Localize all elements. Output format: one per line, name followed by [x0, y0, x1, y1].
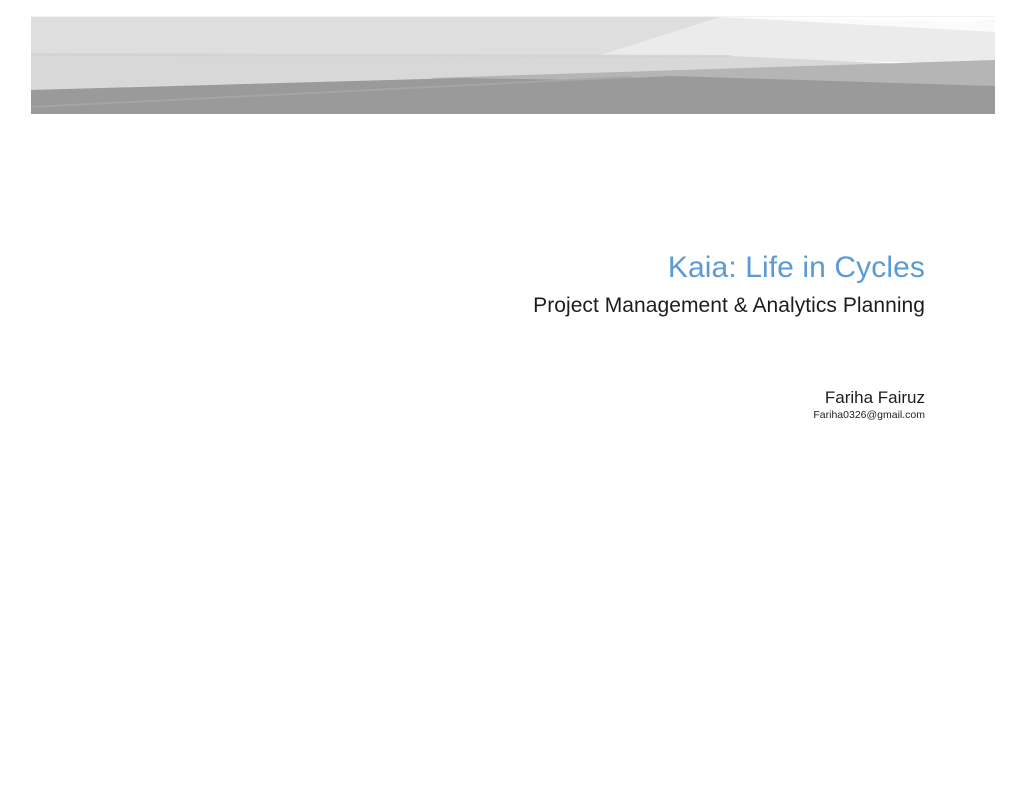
page-title: Kaia: Life in Cycles [60, 250, 925, 286]
title-placeholder: Kaia: Life in Cycles Project Management … [60, 250, 925, 319]
page-subtitle: Project Management & Analytics Planning [60, 293, 925, 319]
banner-top-hairline [31, 16, 995, 17]
author-name: Fariha Fairuz [60, 387, 925, 408]
decorative-banner-graphic [31, 16, 995, 114]
author-email: Fariha0326@gmail.com [60, 409, 925, 422]
banner-shapes [31, 16, 995, 114]
slide-canvas: Kaia: Life in Cycles Project Management … [0, 0, 1024, 791]
author-placeholder: Fariha Fairuz Fariha0326@gmail.com [60, 387, 925, 422]
